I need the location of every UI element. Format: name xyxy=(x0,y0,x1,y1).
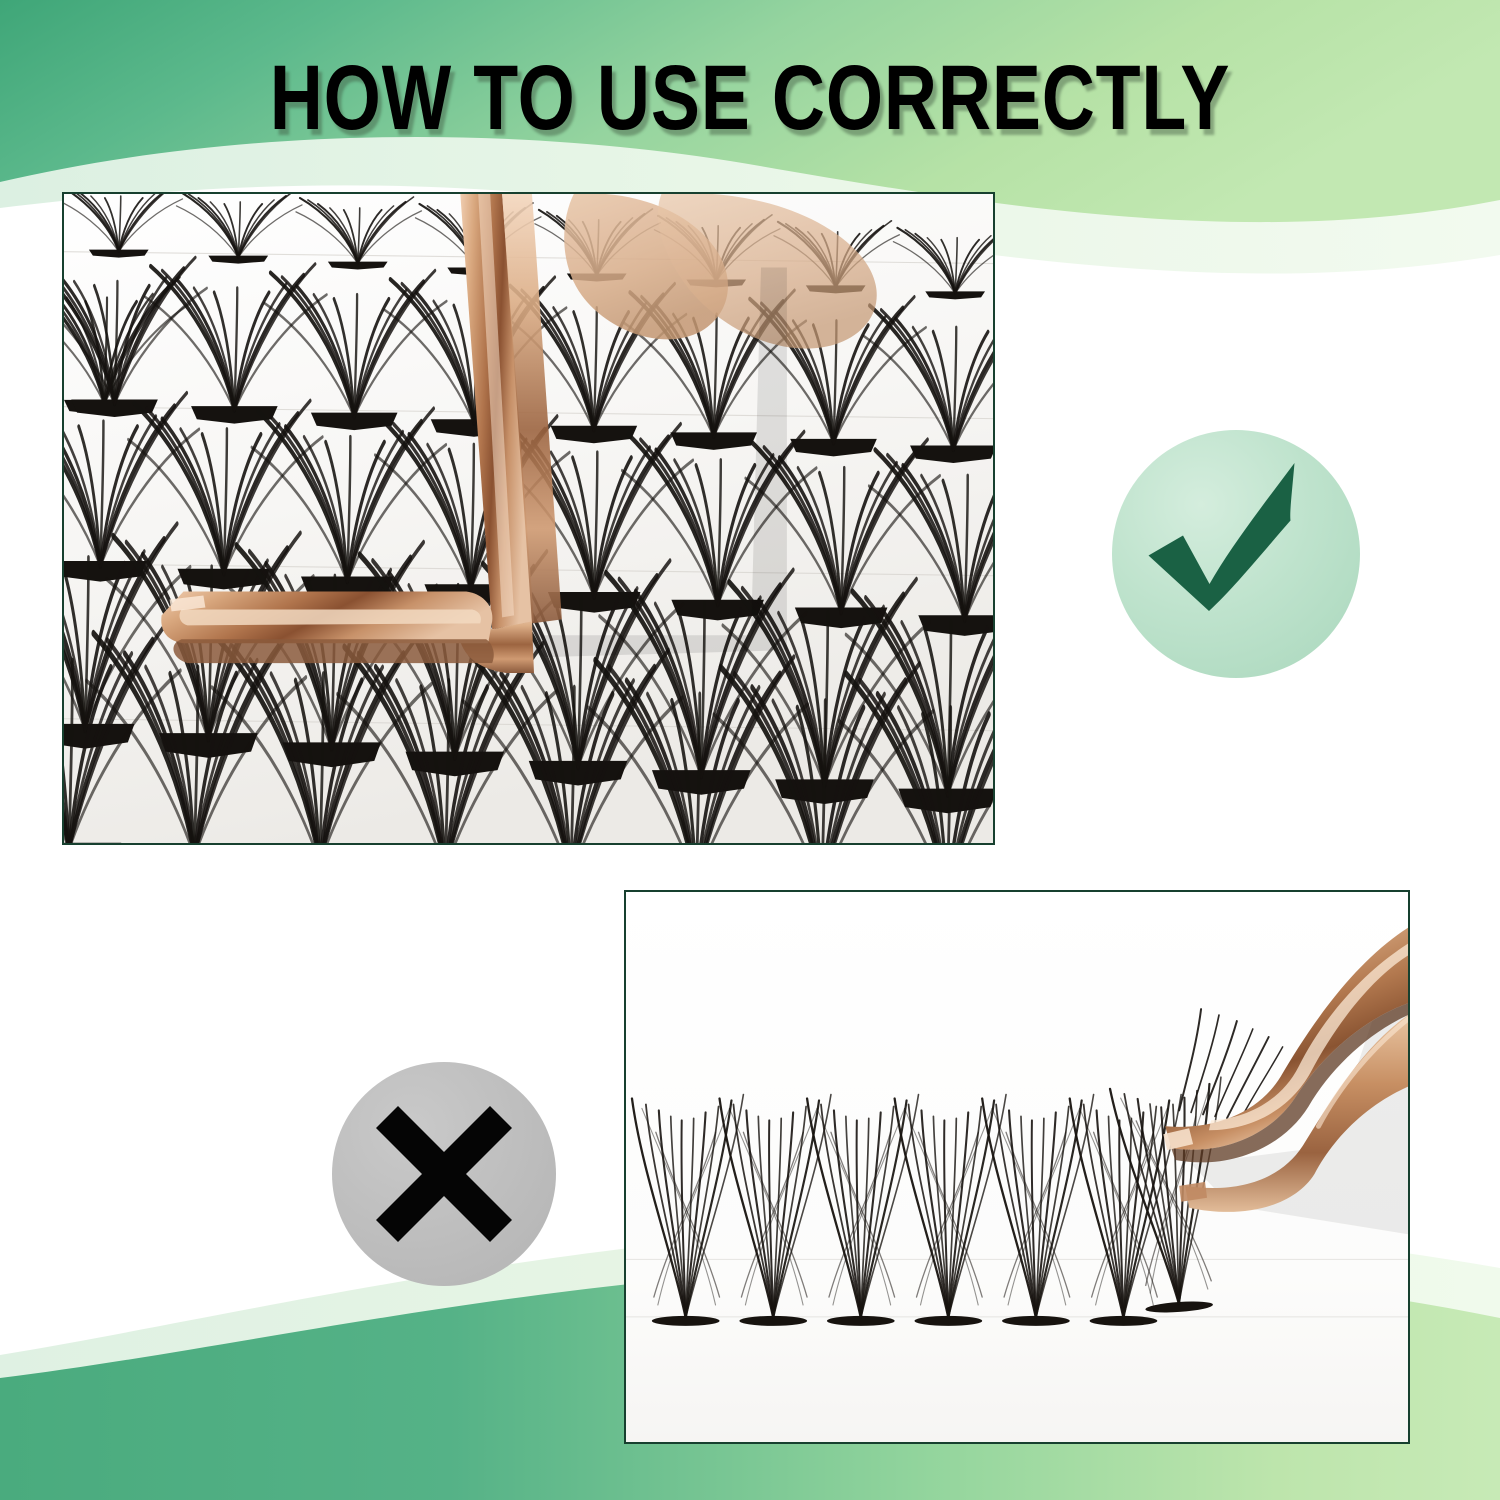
status-badge-correct xyxy=(1112,430,1360,678)
page-title: HOW TO USE CORRECTLY xyxy=(150,52,1350,144)
infographic-page: HOW TO USE CORRECTLY xyxy=(0,0,1500,1500)
lash-tray-top-view-photo xyxy=(62,192,995,845)
lash-cluster-side-view-photo xyxy=(624,890,1410,1444)
status-badge-incorrect xyxy=(332,1062,556,1286)
check-icon xyxy=(1112,430,1360,678)
cross-icon xyxy=(332,1062,556,1286)
